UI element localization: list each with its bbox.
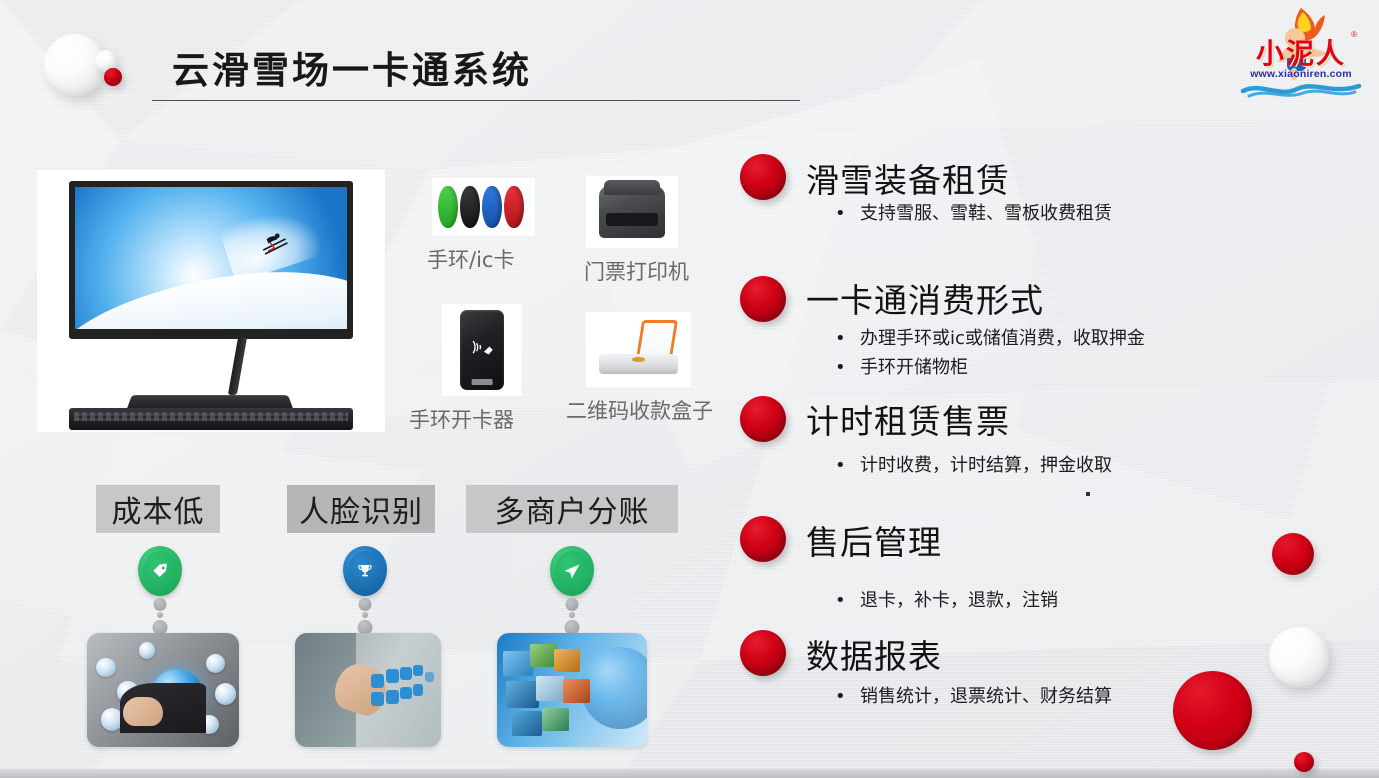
feature-subtext-label: 销售统计，退票统计、财务结算 [860, 686, 1112, 707]
tag-box-2: 人脸识别 [287, 485, 435, 533]
bullet-marker: • [835, 328, 860, 349]
device-qr-payment-box: 二维码收款盒子 [586, 312, 786, 387]
decor-sphere-red-lg [1173, 671, 1252, 750]
tag-box-3: 多商户分账 [466, 485, 678, 533]
trophy-icon [356, 562, 374, 580]
feature-bullet-icon [740, 154, 786, 200]
device-label: 门票打印机 [584, 256, 689, 286]
registered-mark: ® [1351, 30, 1357, 39]
bullet-marker: • [835, 455, 860, 476]
monitor-icon [69, 181, 353, 339]
feature-title: 售后管理 [806, 516, 942, 564]
decor-sphere-red-xs [1294, 752, 1314, 772]
feature-subtext-label: 支持雪服、雪鞋、雪板收费租赁 [860, 203, 1112, 224]
rfid-wave-icon [469, 337, 496, 357]
skier-icon [238, 220, 309, 268]
wristband-photo [432, 178, 535, 236]
device-label: 手环开卡器 [409, 404, 514, 434]
tag-label: 人脸识别 [299, 487, 423, 531]
feature-subtext: •销售统计，退票统计、财务结算 [835, 682, 1112, 708]
qr-payment-box-photo [586, 312, 691, 387]
photo-card-1 [87, 633, 239, 747]
title-underline [152, 100, 800, 101]
device-label: 手环/ic卡 [427, 244, 514, 274]
feature-subtext: •办理手环或ic或储值消费，收取押金 [835, 324, 1145, 350]
tag-box-1: 成本低 [96, 485, 220, 533]
feature-bullet-icon [740, 396, 786, 442]
bullet-marker: • [835, 203, 860, 224]
feature-bullet-icon [740, 516, 786, 562]
feature-title: 计时租赁售票 [806, 395, 1010, 443]
all-in-one-desktop-photo [37, 170, 385, 432]
price-tag-icon [151, 562, 170, 581]
feature-bullet-icon [740, 630, 786, 676]
photo-card-3 [497, 633, 647, 747]
device-label: 二维码收款盒子 [566, 395, 713, 425]
decor-sphere-red-small [104, 68, 122, 86]
feature-subtext: •支持雪服、雪鞋、雪板收费租赁 [835, 199, 1112, 225]
bullet-marker: • [835, 590, 860, 611]
brand-url: www.xiaoniren.com [1235, 68, 1367, 80]
ticket-printer-photo [586, 176, 678, 248]
pin-trophy [343, 546, 387, 638]
monitor-wallpaper-skier [75, 187, 347, 329]
card-writer-photo [442, 304, 522, 396]
bullet-marker: • [835, 686, 860, 707]
feature-subtext-label: 退卡，补卡，退款，注销 [860, 590, 1058, 611]
feature-subtext-label: 手环开储物柜 [860, 357, 968, 378]
feature-title: 数据报表 [806, 630, 942, 678]
page-title: 云滑雪场一卡通系统 [172, 40, 532, 94]
stray-period-mark [1086, 492, 1090, 496]
bottom-edge-bar [0, 769, 1379, 778]
feature-bullet-icon [740, 276, 786, 322]
tag-label: 多商户分账 [495, 487, 650, 531]
pin-send [550, 546, 594, 638]
brand-name: 小泥人 [1235, 40, 1367, 68]
bullet-marker: • [835, 357, 860, 378]
feature-title: 一卡通消费形式 [806, 274, 1044, 322]
decor-sphere-white-br [1269, 627, 1329, 687]
keyboard-icon [69, 408, 353, 430]
monitor-stand-neck [228, 337, 247, 395]
feature-subtext: •退卡，补卡，退款，注销 [835, 586, 1058, 612]
feature-subtext-label: 办理手环或ic或储值消费，收取押金 [860, 328, 1145, 349]
slide-canvas: 云滑雪场一卡通系统 ® 小泥人 www.xiaoniren.com [0, 0, 1379, 778]
brand-wave-icon [1235, 80, 1367, 98]
feature-subtext: •计时收费，计时结算，押金收取 [835, 451, 1112, 477]
photo-card-2 [295, 633, 441, 747]
feature-subtext-label: 计时收费，计时结算，押金收取 [860, 455, 1112, 476]
brand-logo: ® 小泥人 www.xiaoniren.com [1235, 4, 1367, 96]
tag-label: 成本低 [112, 487, 205, 531]
send-icon [563, 562, 582, 581]
pin-price-tag [138, 546, 182, 638]
decor-sphere-red-md [1272, 533, 1314, 575]
feature-subtext: •手环开储物柜 [835, 353, 968, 379]
feature-title: 滑雪装备租赁 [806, 154, 1010, 202]
